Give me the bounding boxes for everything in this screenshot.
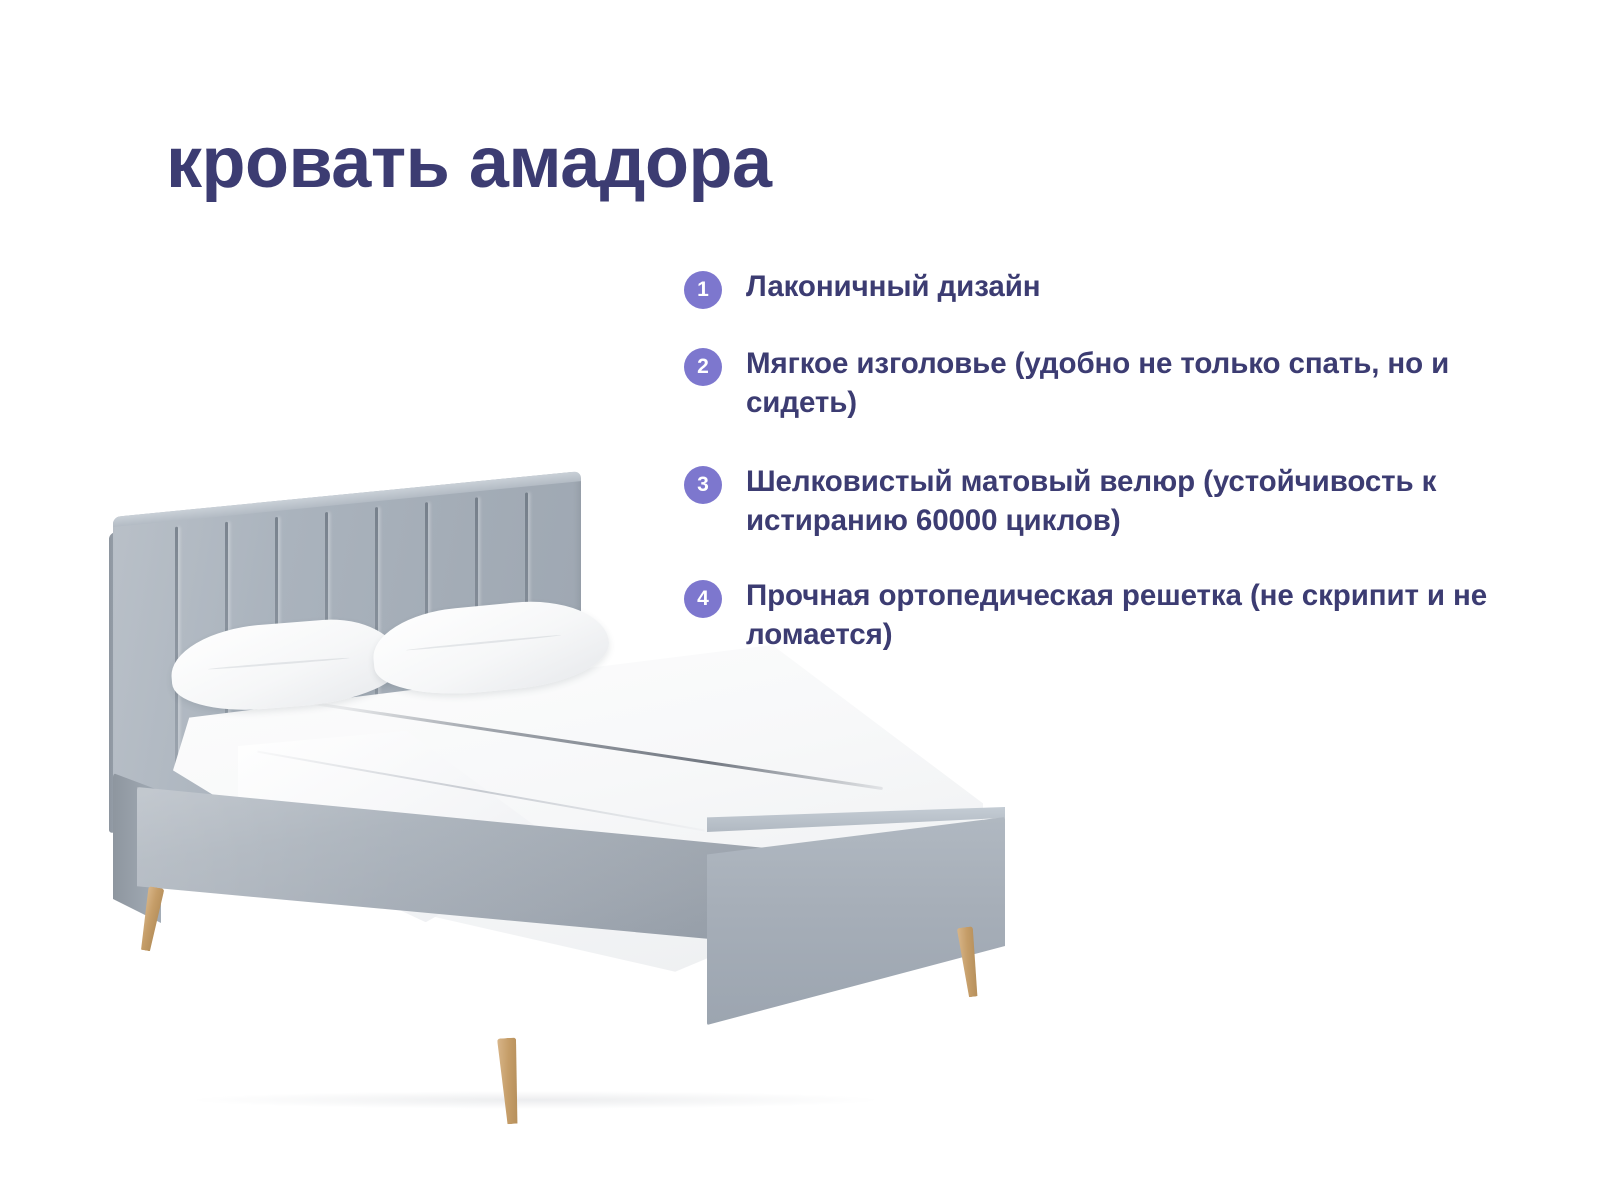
- feature-text-2: Мягкое изголовье (удобно не только спать…: [746, 345, 1514, 423]
- feature-item-1: 1 Лаконичный дизайн: [684, 268, 1514, 307]
- feature-number-badge-1: 1: [684, 271, 722, 309]
- bed-leg-front-right: [497, 1037, 522, 1124]
- bed-illustration: [95, 495, 1075, 1135]
- feature-text-1: Лаконичный дизайн: [746, 268, 1514, 307]
- page-title: кровать амадора: [166, 126, 771, 202]
- page-canvas: кровать амадора 1 Лаконичный дизайн 2 Мя…: [0, 0, 1600, 1200]
- pillow-crease: [406, 634, 561, 651]
- feature-item-2: 2 Мягкое изголовье (удобно не только спа…: [684, 345, 1514, 423]
- floor-shadow: [185, 1091, 885, 1109]
- headboard-top-edge: [113, 471, 581, 527]
- feature-number-badge-2: 2: [684, 348, 722, 386]
- pillow-crease: [208, 657, 350, 670]
